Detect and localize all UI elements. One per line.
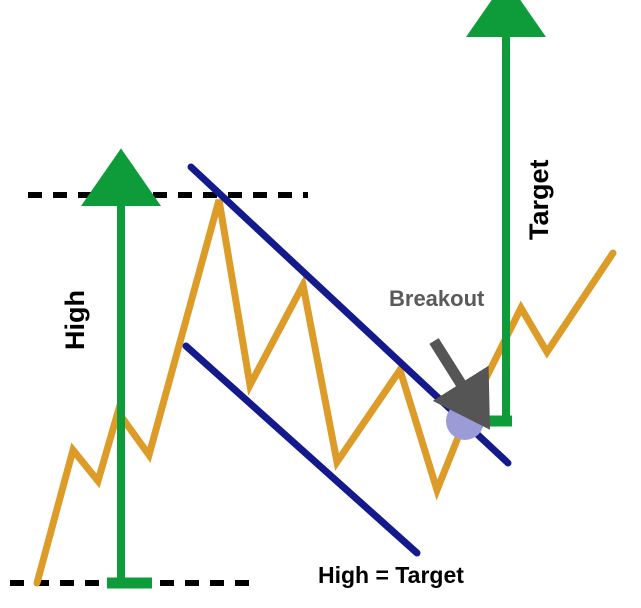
- breakout-label: Breakout: [389, 286, 484, 312]
- chart-canvas: [0, 0, 641, 608]
- lower-support-trendline: [186, 346, 417, 553]
- breakout-point-marker[interactable]: [446, 402, 484, 440]
- high-equals-target-label: High = Target: [318, 562, 464, 589]
- high-measure-label: High: [60, 290, 91, 350]
- breakout-pointer-arrow-icon: [434, 341, 463, 387]
- target-measure-label: Target: [524, 159, 555, 240]
- technical-analysis-diagram: High Target Breakout High = Target: [0, 0, 641, 608]
